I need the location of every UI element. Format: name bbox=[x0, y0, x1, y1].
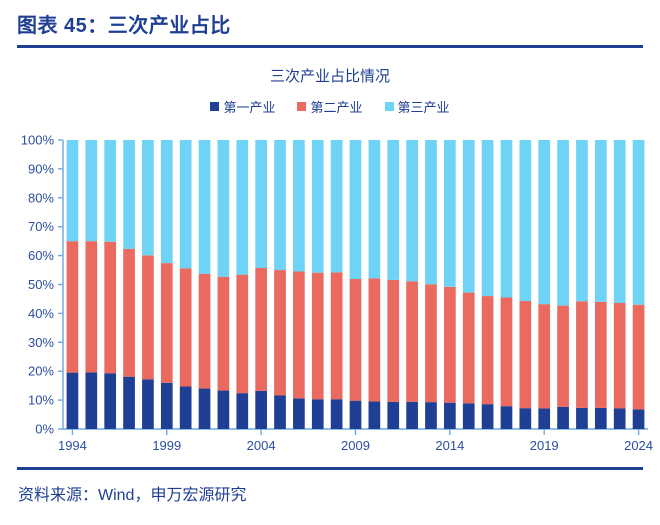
source-note: 资料来源：Wind，申万宏源研究 bbox=[18, 481, 246, 505]
header-divider bbox=[17, 45, 643, 48]
figure-header: 图表 45：三次产业占比 bbox=[0, 0, 660, 52]
svg-text:2019: 2019 bbox=[530, 438, 559, 453]
stacked-bar-chart: 0%10%20%30%40%50%60%70%80%90%100%1994199… bbox=[0, 52, 660, 467]
svg-text:100%: 100% bbox=[21, 133, 55, 148]
svg-text:80%: 80% bbox=[28, 190, 54, 205]
page-title: 图表 45：三次产业占比 bbox=[17, 9, 231, 38]
svg-text:1999: 1999 bbox=[152, 438, 181, 453]
svg-text:60%: 60% bbox=[28, 248, 54, 263]
chart-card: 三次产业占比情况 第一产业 第二产业 第三产业 0%10%20%30%40%50… bbox=[0, 52, 660, 467]
svg-text:90%: 90% bbox=[28, 161, 54, 176]
footer-divider bbox=[17, 467, 643, 470]
plot-area: 0%10%20%30%40%50%60%70%80%90%100%1994199… bbox=[0, 52, 660, 467]
svg-text:1994: 1994 bbox=[58, 438, 87, 453]
svg-text:2004: 2004 bbox=[247, 438, 276, 453]
svg-text:70%: 70% bbox=[28, 219, 54, 234]
svg-text:0%: 0% bbox=[35, 422, 54, 437]
svg-text:2014: 2014 bbox=[435, 438, 464, 453]
figure-footer: 资料来源：Wind，申万宏源研究 bbox=[0, 467, 660, 525]
svg-text:2024: 2024 bbox=[624, 438, 653, 453]
svg-text:2009: 2009 bbox=[341, 438, 370, 453]
svg-text:50%: 50% bbox=[28, 277, 54, 292]
svg-text:40%: 40% bbox=[28, 306, 54, 321]
svg-text:30%: 30% bbox=[28, 335, 54, 350]
svg-text:10%: 10% bbox=[28, 393, 54, 408]
svg-text:20%: 20% bbox=[28, 364, 54, 379]
